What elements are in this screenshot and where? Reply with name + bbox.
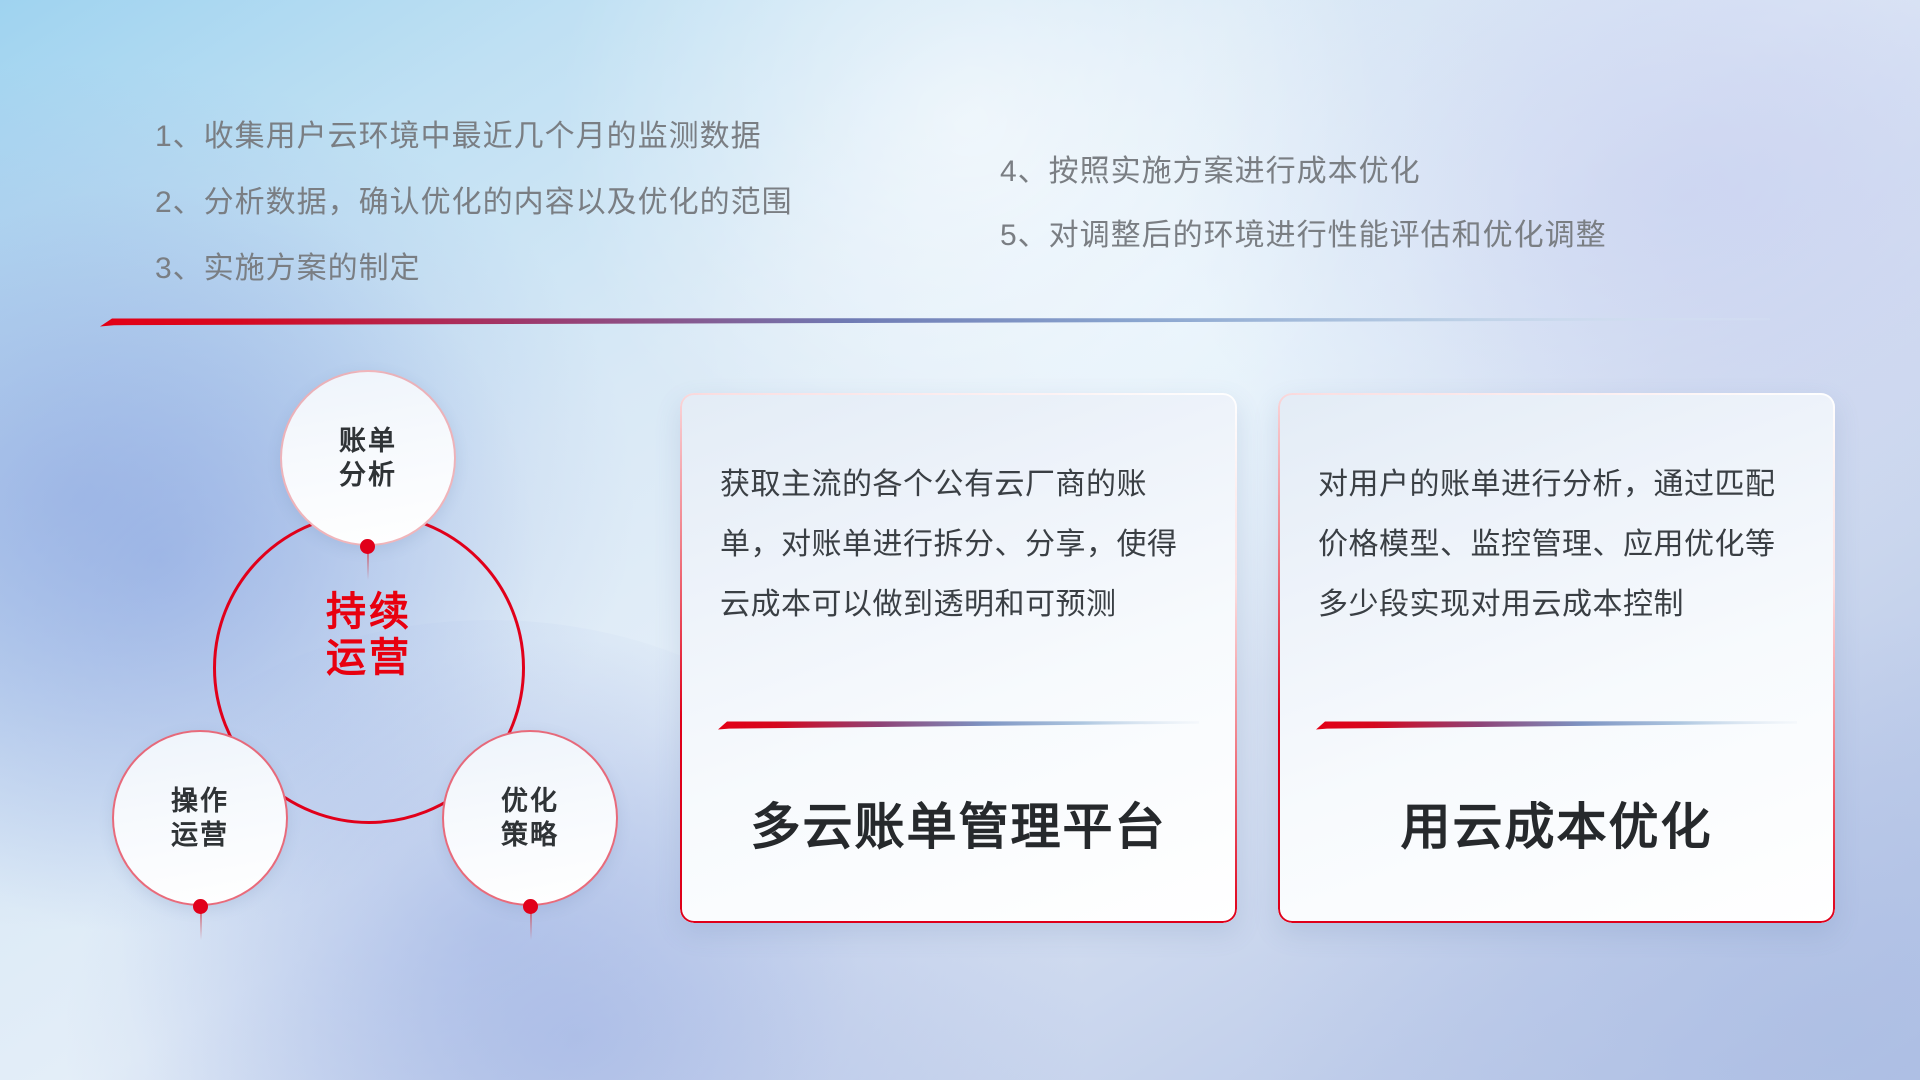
bubble-label: 优化 策略 [501,784,559,852]
card-title: 多云账单管理平台 [680,787,1237,859]
diagram-center-label-line1: 持续 [213,590,525,636]
card-rule [1316,719,1797,730]
step-item: 2、分析数据，确认优化的内容以及优化的范围 [155,188,793,218]
node-dot-left-icon [193,899,208,914]
step-item: 4、按照实施方案进行成本优化 [1000,157,1607,187]
card-rule [718,719,1199,730]
bubble-label: 账单 分析 [339,424,397,492]
bubble-label-line2: 策略 [501,818,559,852]
bubble-label-line2: 分析 [339,458,397,492]
node-tail-right-icon [530,912,532,940]
card-body-text: 对用户的账单进行分析，通过匹配价格模型、监控管理、应用优化等多少段实现对用云成本… [1318,455,1795,635]
card-body-text: 获取主流的各个公有云厂商的账单，对账单进行拆分、分享，使得云成本可以做到透明和可… [720,455,1197,635]
node-dot-right-icon [523,899,538,914]
steps-left-column: 1、收集用户云环境中最近几个月的监测数据 2、分析数据，确认优化的内容以及优化的… [155,122,793,320]
diagram-center-label: 持续 运营 [213,590,525,681]
diagram-center-label-line2: 运营 [213,636,525,682]
node-dot-top-icon [360,539,375,554]
section-divider [100,314,1770,327]
steps-right-column: 4、按照实施方案进行成本优化 5、对调整后的环境进行性能评估和优化调整 [1000,157,1607,285]
step-item: 1、收集用户云环境中最近几个月的监测数据 [155,122,793,152]
diagram-bubble-bill-analysis[interactable]: 账单 分析 [280,370,456,546]
bubble-label: 操作 运营 [171,784,229,852]
card-cloud-cost-optimization[interactable]: 对用户的账单进行分析，通过匹配价格模型、监控管理、应用优化等多少段实现对用云成本… [1278,393,1835,923]
diagram-bubble-operation[interactable]: 操作 运营 [112,730,288,906]
step-item: 5、对调整后的环境进行性能评估和优化调整 [1000,221,1607,251]
continuous-operation-diagram: 持续 运营 账单 分析 操作 运营 优化 策略 [0,330,660,950]
node-tail-top-icon [367,552,369,580]
slide-canvas: 1、收集用户云环境中最近几个月的监测数据 2、分析数据，确认优化的内容以及优化的… [0,0,1920,1080]
bubble-label-line2: 运营 [171,818,229,852]
bubble-label-line1: 操作 [171,784,229,818]
bubble-label-line1: 优化 [501,784,559,818]
bubble-label-line1: 账单 [339,424,397,458]
card-title: 用云成本优化 [1278,787,1835,859]
step-item: 3、实施方案的制定 [155,254,793,284]
card-multi-cloud-bill-platform[interactable]: 获取主流的各个公有云厂商的账单，对账单进行拆分、分享，使得云成本可以做到透明和可… [680,393,1237,923]
node-tail-left-icon [200,912,202,940]
diagram-bubble-optimize-strategy[interactable]: 优化 策略 [442,730,618,906]
